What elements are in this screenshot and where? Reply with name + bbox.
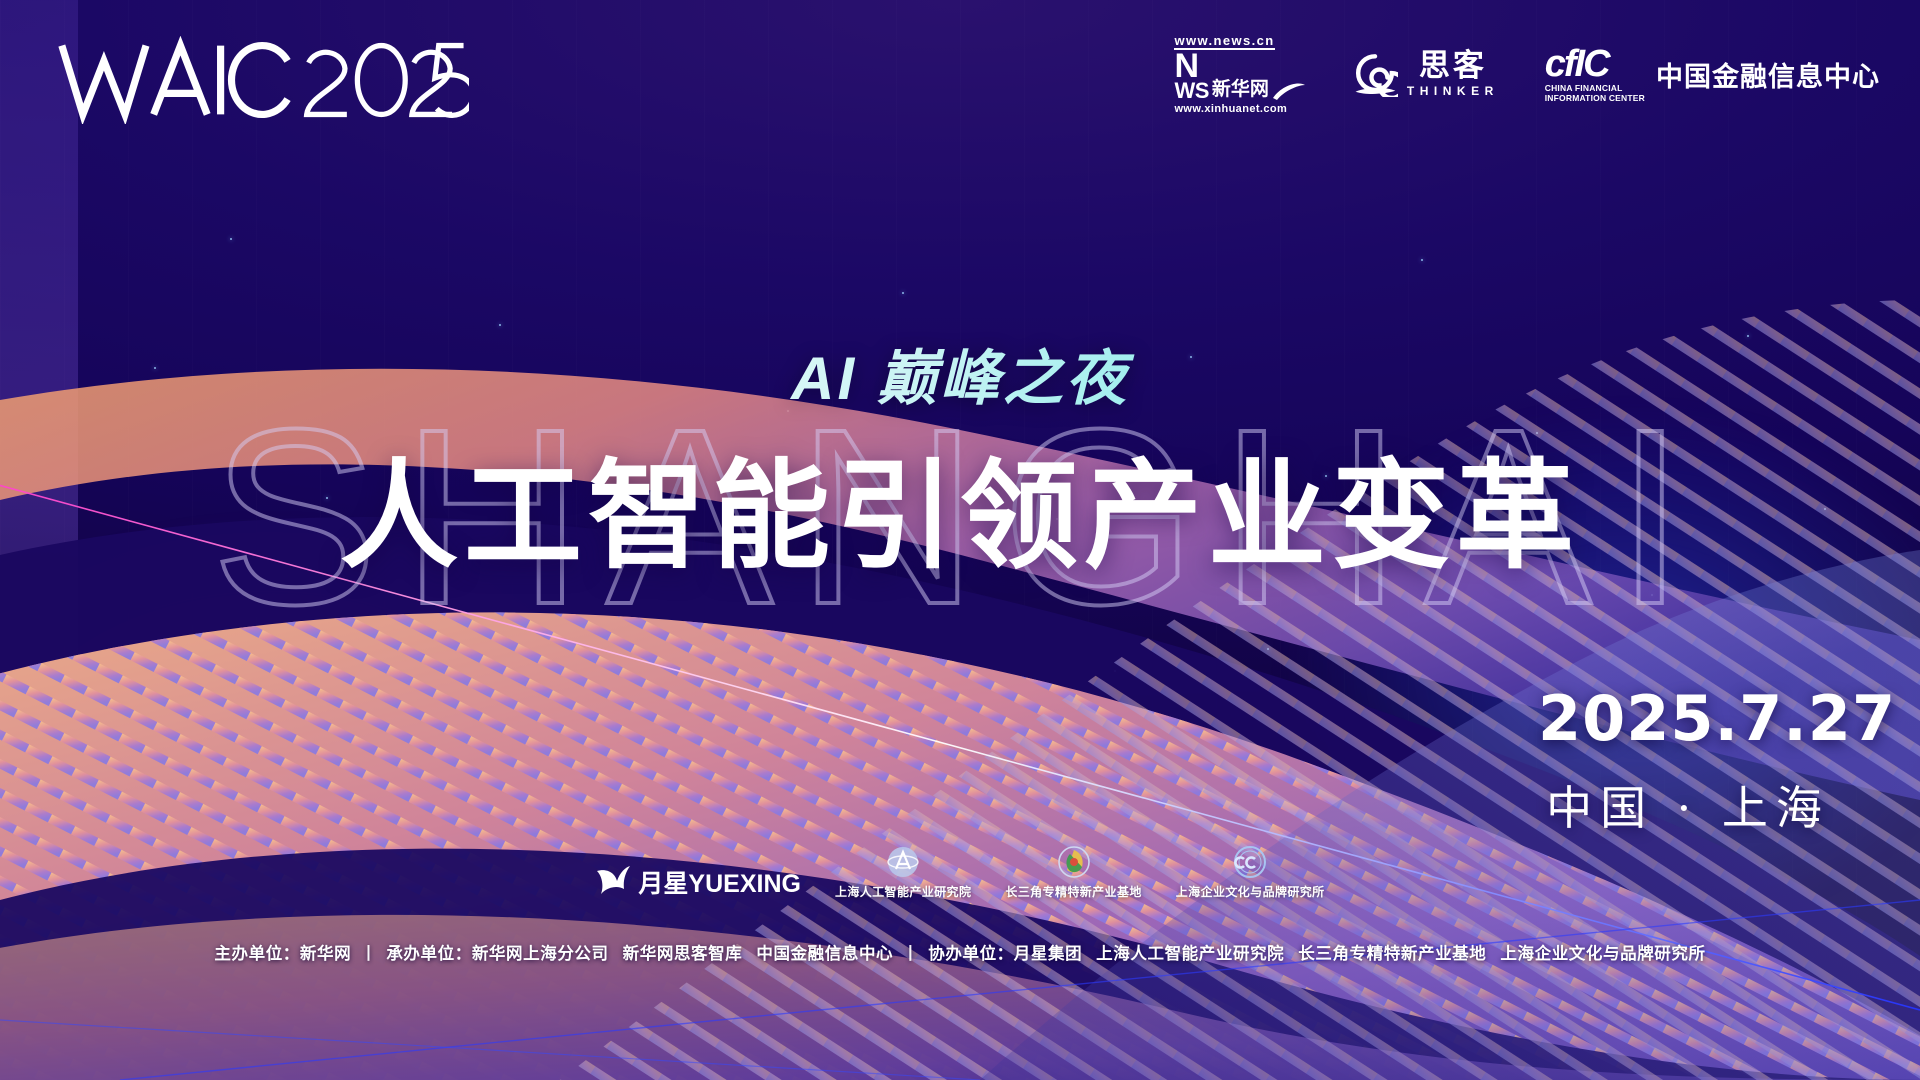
thinker-name-en: THINKER [1407,85,1499,97]
partner-logo-thinker: 思客 THINKER [1352,51,1499,97]
credits-coorganizer-1: 月星集团 [1014,945,1082,963]
sponsor-logo-yuexing: 月星YUEXING [595,864,801,900]
xinhuanet-swoosh-icon [1272,79,1306,101]
credits-separator-1: 丨 [351,940,386,964]
cfic-name-cn: 中国金融信息中心 [1656,55,1880,94]
credits-coorganizer-label: 协办单位： [928,945,1014,963]
credits-organizer-2: 新华网思客智库 [623,945,743,963]
xinhuanet-mark-n: N [1174,53,1198,81]
sponsor-name-shanghai-brand-institute: 上海企业文化与品牌研究所 [1176,883,1325,900]
sponsor-name-yangtze-delta-base: 长三角专精特新产业基地 [1005,883,1141,900]
sponsor-logo-yangtze-delta-base: 长三角专精特新产业基地 [1005,845,1141,900]
sponsor-name-shanghai-ai-institute: 上海人工智能产业研究院 [835,883,971,900]
circular-emblem-icon [1057,845,1091,879]
event-date-location: 2025.7.27 中国 · 上海 [1538,688,1838,838]
event-date: 2025.7.27 [1538,688,1838,750]
xinhuanet-name-cn: 新华网 [1212,80,1269,101]
credits-organizer-1: 新华网上海分公司 [472,945,609,963]
sponsor-logo-strip: 月星YUEXING 上海人工智能产业研究院 长三角专精特新产业基地 [0,845,1920,900]
cfic-sub-line2: INFORMATION CENTER [1545,94,1645,104]
globe-a-icon [886,845,920,879]
sponsor-logo-shanghai-ai-institute: 上海人工智能产业研究院 [835,845,971,900]
credits-coorganizer-3: 长三角专精特新产业基地 [1298,945,1486,963]
thinker-name-cn: 思客 [1419,51,1487,82]
partner-logo-cfic: cfIC CHINA FINANCIAL INFORMATION CENTER … [1545,45,1880,105]
waic-2025-logo [58,36,469,124]
credits-separator-2: 丨 [893,940,928,964]
credits-coorganizer-4: 上海企业文化与品牌研究所 [1500,945,1705,963]
credits-organizer-3: 中国金融信息中心 [756,945,893,963]
seal-badge-icon [1233,845,1267,879]
sponsor-logo-shanghai-brand-institute: 上海企业文化与品牌研究所 [1176,845,1325,900]
xinhuanet-url-bottom: www.xinhuanet.com [1174,104,1287,115]
event-poster: SHANGHAI [0,0,1920,1080]
poster-header: www.news.cn N WS 新华网 www.xinhuanet.com [0,0,1920,150]
event-location: 中国 · 上海 [1538,772,1838,838]
credits-host-label: 主办单位： [214,945,300,963]
event-headline: 人工智能引领产业变革 [0,420,1920,591]
star-swoosh-icon [595,865,631,899]
credits-host-value: 新华网 [300,945,351,963]
event-subtitle: AI 巅峰之夜 [0,330,1920,417]
credits-coorganizer-2: 上海人工智能产业研究院 [1096,945,1284,963]
xinhuanet-mark-ws: WS [1174,81,1208,101]
credits-organizer-label: 承办单位： [386,945,472,963]
partner-logo-xinhuanet: www.news.cn N WS 新华网 www.xinhuanet.com [1174,34,1305,115]
credits-line: 主办单位：新华网丨承办单位：新华网上海分公司新华网思客智库中国金融信息中心丨协办… [0,940,1920,964]
cfic-mark: cfIC [1545,45,1645,83]
partner-logo-row: www.news.cn N WS 新华网 www.xinhuanet.com [1174,34,1880,115]
brush-swirl-icon [1352,51,1398,97]
cfic-sub-line1: CHINA FINANCIAL [1545,84,1645,94]
sponsor-name-yuexing: 月星YUEXING [638,864,801,900]
